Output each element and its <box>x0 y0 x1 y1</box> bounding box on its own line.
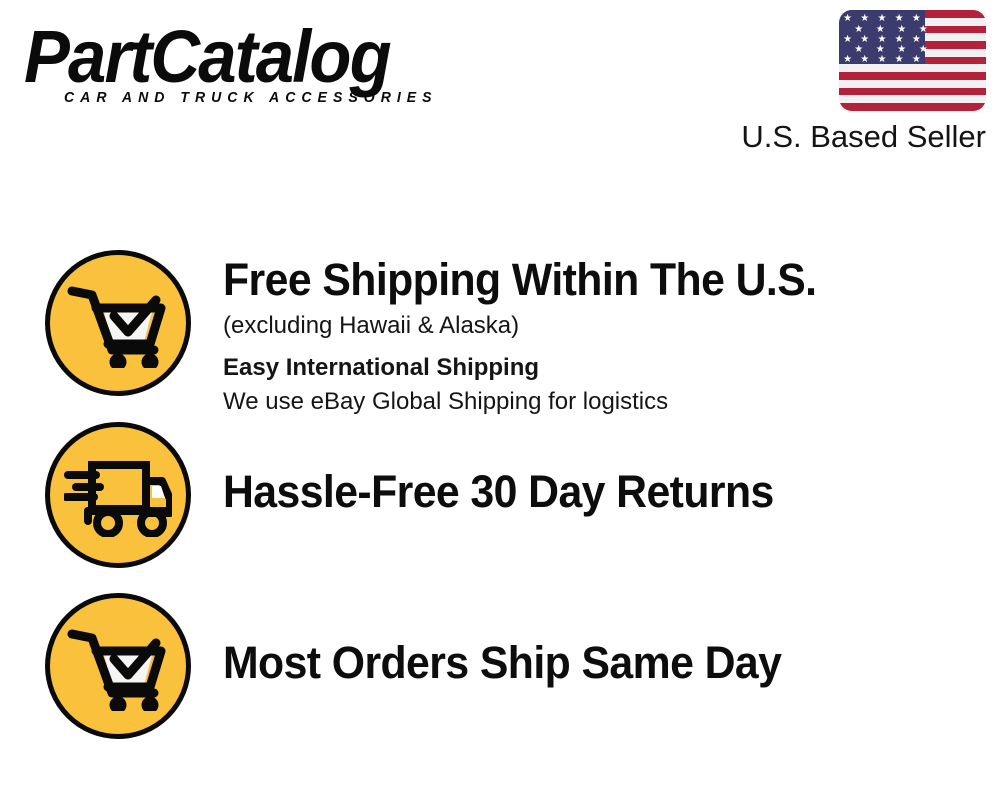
brand-logo: PartCatalog CAR AND TRUCK ACCESSORIES <box>24 22 494 106</box>
feature-heading: Hassle-Free 30 Day Returns <box>223 468 961 517</box>
shopping-cart-check-icon <box>45 593 191 739</box>
feature-text: Free Shipping Within The U.S. (excluding… <box>191 250 1000 419</box>
brand-tagline: CAR AND TRUCK ACCESSORIES <box>64 90 481 106</box>
feature-row: Most Orders Ship Same Day <box>0 593 1000 739</box>
flag-canton: ★★★★★ ★★★★ ★★★★★ ★★★★ ★★★★★ <box>839 10 925 64</box>
feature-subtext-exclusions: (excluding Hawaii & Alaska) <box>223 309 1000 343</box>
feature-heading: Most Orders Ship Same Day <box>223 639 961 688</box>
shipping-info-banner: PartCatalog CAR AND TRUCK ACCESSORIES <box>0 0 1000 800</box>
feature-subtext-international: Easy International Shipping <box>223 351 1000 385</box>
feature-text: Hassle-Free 30 Day Returns <box>191 422 1000 517</box>
feature-text: Most Orders Ship Same Day <box>191 593 1000 688</box>
us-based-seller-badge: ★★★★★ ★★★★ ★★★★★ ★★★★ ★★★★★ U.S. Based S… <box>706 10 986 155</box>
feature-subtext-logistics: We use eBay Global Shipping for logistic… <box>223 385 1000 419</box>
feature-heading: Free Shipping Within The U.S. <box>223 256 961 305</box>
shopping-cart-check-icon <box>45 250 191 396</box>
delivery-truck-icon <box>45 422 191 568</box>
us-flag-icon: ★★★★★ ★★★★ ★★★★★ ★★★★ ★★★★★ <box>839 10 986 111</box>
feature-row: Hassle-Free 30 Day Returns <box>0 422 1000 568</box>
feature-row: Free Shipping Within The U.S. (excluding… <box>0 250 1000 419</box>
seller-label: U.S. Based Seller <box>706 119 986 155</box>
brand-wordmark: PartCatalog <box>24 22 461 92</box>
